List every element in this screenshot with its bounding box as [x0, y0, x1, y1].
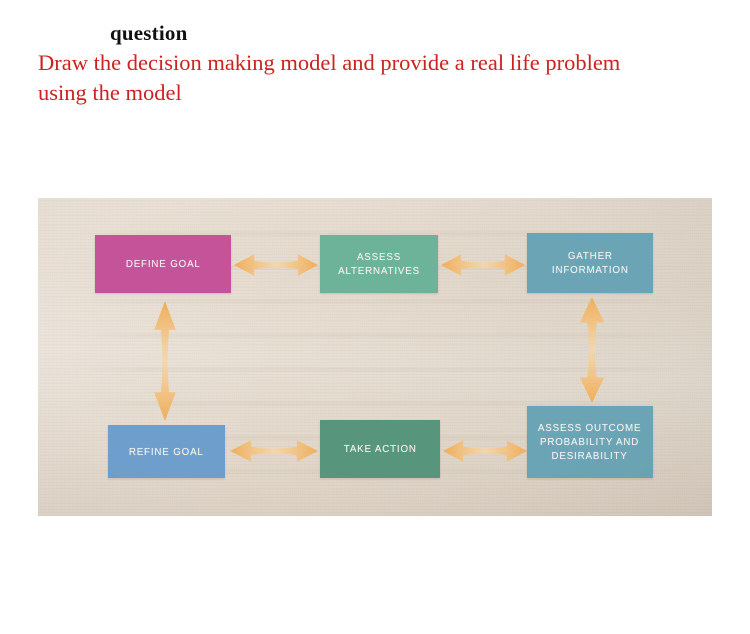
diagram-node-refine-goal: REFINE GOAL [108, 425, 225, 478]
diagram-node-assess-outcome: ASSESS OUTCOMEPROBABILITY ANDDESIRABILIT… [527, 406, 653, 478]
diagram-node-assess-alternatives: ASSESSALTERNATIVES [320, 235, 438, 293]
arrow-glyph [234, 254, 318, 276]
diagram-node-label: DEFINE GOAL [123, 257, 204, 271]
diagram-node-label-line: INFORMATION [552, 263, 629, 277]
arrow-define-goal-to-assess-alternatives [234, 250, 318, 280]
diagram-node-label-line: ASSESS [338, 250, 420, 264]
diagram-node-define-goal: DEFINE GOAL [95, 235, 231, 293]
diagram-node-label-line: ASSESS OUTCOME [538, 421, 641, 435]
question-prompt-line: using the model [38, 78, 738, 108]
question-prompt: Draw the decision making model and provi… [38, 48, 738, 108]
arrow-define-goal-to-refine-goal [150, 301, 180, 421]
diagram-node-take-action: TAKE ACTION [320, 420, 440, 478]
arrow-glyph [441, 254, 525, 276]
diagram-node-label: TAKE ACTION [341, 442, 420, 456]
diagram-node-label: GATHERINFORMATION [549, 249, 632, 277]
diagram-node-label-line: GATHER [552, 249, 629, 263]
diagram-node-label-line: DESIRABILITY [538, 449, 641, 463]
arrow-gather-information-to-assess-outcome [575, 297, 609, 403]
diagram-node-label-line: PROBABILITY AND [538, 435, 641, 449]
diagram-node-label: ASSESS OUTCOMEPROBABILITY ANDDESIRABILIT… [534, 421, 645, 463]
decision-model-photo: DEFINE GOALASSESSALTERNATIVESGATHERINFOR… [38, 198, 712, 516]
arrow-glyph [230, 440, 318, 462]
arrow-glyph [154, 301, 176, 421]
diagram-node-label: REFINE GOAL [126, 445, 207, 459]
arrow-take-action-to-assess-outcome [443, 436, 527, 466]
diagram-node-label-line: TAKE ACTION [343, 442, 416, 456]
arrow-assess-alternatives-to-gather-information [441, 250, 525, 280]
question-prompt-line: Draw the decision making model and provi… [38, 48, 738, 78]
diagram-node-label-line: ALTERNATIVES [338, 264, 420, 278]
diagram-node-label-line: REFINE GOAL [129, 445, 204, 459]
diagram-node-label-line: DEFINE GOAL [126, 257, 201, 271]
diagram-node-label: ASSESSALTERNATIVES [335, 250, 423, 278]
diagram-node-gather-information: GATHERINFORMATION [527, 233, 653, 293]
question-heading: question [110, 20, 187, 46]
arrow-glyph [580, 297, 604, 403]
arrow-glyph [443, 440, 527, 462]
arrow-refine-goal-to-take-action [230, 436, 318, 466]
